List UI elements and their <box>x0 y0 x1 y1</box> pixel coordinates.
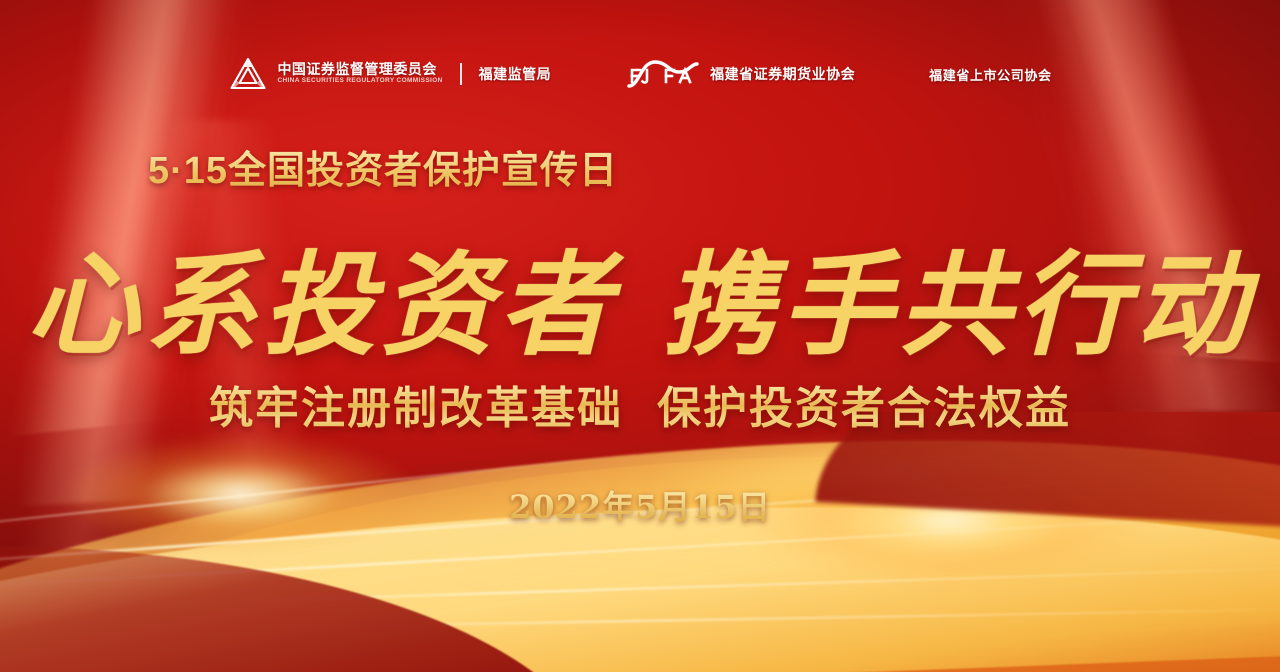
slogan-left: 筑牢注册制改革基础 <box>209 384 623 433</box>
event-label: 5·15全国投资者保护宣传日 <box>148 139 618 194</box>
poster-canvas: 中国证券监督管理委员会 CHINA SECURITIES REGULATORY … <box>0 0 1280 672</box>
poster-content: 5·15全国投资者保护宣传日 心系投资者携手共行动 筑牢注册制改革基础保护投资者… <box>0 0 1280 672</box>
headline-left: 心系投资者 <box>27 240 617 371</box>
headline-right: 携手共行动 <box>663 240 1253 371</box>
event-date: 2022年5月15日 <box>0 482 1280 528</box>
headline: 心系投资者携手共行动 <box>0 215 1280 377</box>
slogan: 筑牢注册制改革基础保护投资者合法权益 <box>0 372 1280 436</box>
slogan-right: 保护投资者合法权益 <box>657 384 1071 433</box>
